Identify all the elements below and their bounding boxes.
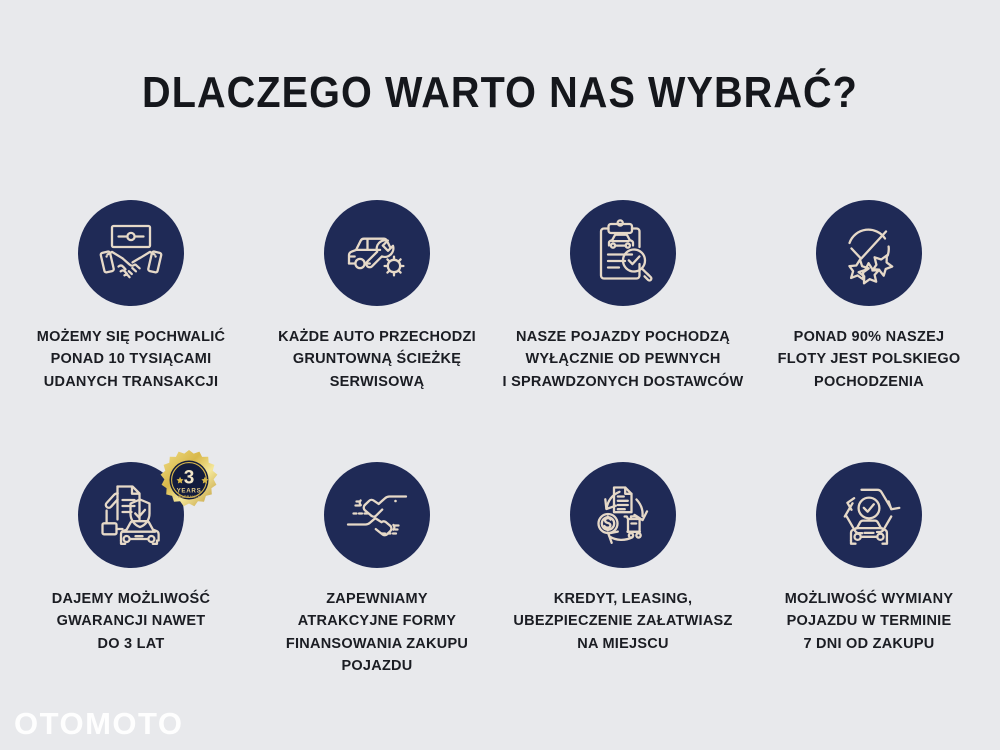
icon-badge-wrap: 3 YEARS WARRANTY	[78, 462, 184, 568]
car-wrench-gear-icon	[340, 216, 414, 290]
badge-number: 3	[184, 468, 195, 489]
feature-caption: MOŻEMY SIĘ POCHWALIĆ PONAD 10 TYSIĄCAMI …	[33, 326, 229, 393]
clipboard-car-magnifier-icon	[586, 216, 660, 290]
three-years-warranty-badge: 3 YEARS WARRANTY	[158, 449, 220, 511]
icon-circle	[324, 200, 430, 306]
promo-banner: DLACZEGO WARTO NAS WYBRAĆ?	[0, 0, 1000, 750]
car-recycle-check-icon	[832, 478, 906, 552]
feature-item-exchange: MOŻLIWOŚĆ WYMIANY POJAZDU W TERMINIE 7 D…	[746, 462, 992, 712]
feature-caption: KREDYT, LEASING, UBEZPIECZENIE ZAŁATWIAS…	[511, 588, 734, 655]
feature-caption: ZAPEWNIAMY ATRAKCYJNE FORMY FINANSOWANIA…	[282, 588, 472, 678]
icon-badge-wrap	[570, 200, 676, 306]
icon-badge-wrap	[78, 200, 184, 306]
feature-item-transactions: MOŻEMY SIĘ POCHWALIĆ PONAD 10 TYSIĄCAMI …	[8, 200, 254, 450]
icon-badge-wrap	[816, 200, 922, 306]
handshake-money-icon	[94, 216, 168, 290]
icon-circle	[78, 200, 184, 306]
otomoto-logo: OTOMOTO	[14, 706, 184, 742]
hands-money-exchange-icon	[340, 478, 414, 552]
icon-badge-wrap	[324, 462, 430, 568]
features-grid: MOŻEMY SIĘ POCHWALIĆ PONAD 10 TYSIĄCAMI …	[8, 200, 992, 712]
page-title: DLACZEGO WARTO NAS WYBRAĆ?	[50, 68, 950, 118]
icon-circle	[570, 462, 676, 568]
feature-caption: DAJEMY MOŻLIWOŚĆ GWARANCJI NAWET DO 3 LA…	[48, 588, 214, 655]
feature-caption: KAŻDE AUTO PRZECHODZI GRUNTOWNĄ ŚCIEŻKĘ …	[274, 326, 480, 393]
icon-badge-wrap	[816, 462, 922, 568]
feature-caption: NASZE POJAZDY POCHODZĄ WYŁĄCZNIE OD PEWN…	[501, 326, 746, 393]
icon-badge-wrap	[570, 462, 676, 568]
icon-circle	[324, 462, 430, 568]
feature-item-financing: ZAPEWNIAMY ATRAKCYJNE FORMY FINANSOWANIA…	[254, 462, 500, 712]
feature-item-polish-fleet: PONAD 90% NASZEJ FLOTY JEST POLSKIEGO PO…	[746, 200, 992, 450]
feature-item-credit-leasing-insurance: KREDYT, LEASING, UBEZPIECZENIE ZAŁATWIAS…	[500, 462, 746, 712]
icon-circle	[570, 200, 676, 306]
icon-badge-wrap	[324, 200, 430, 306]
feature-caption: PONAD 90% NASZEJ FLOTY JEST POLSKIEGO PO…	[774, 326, 965, 393]
badge-sub-label: WARRANTY	[178, 495, 200, 499]
document-cart-coin-cycle-icon	[586, 478, 660, 552]
feature-item-warranty: 3 YEARS WARRANTY DAJEMY MOŻLIWOŚĆ GWARAN…	[8, 462, 254, 712]
icon-circle	[816, 462, 922, 568]
check-stars-icon	[832, 216, 906, 290]
feature-caption: MOŻLIWOŚĆ WYMIANY POJAZDU W TERMINIE 7 D…	[781, 588, 958, 655]
feature-item-service-path: KAŻDE AUTO PRZECHODZI GRUNTOWNĄ ŚCIEŻKĘ …	[254, 200, 500, 450]
badge-label: YEARS	[177, 488, 202, 495]
feature-item-trusted-suppliers: NASZE POJAZDY POCHODZĄ WYŁĄCZNIE OD PEWN…	[500, 200, 746, 450]
icon-circle	[816, 200, 922, 306]
